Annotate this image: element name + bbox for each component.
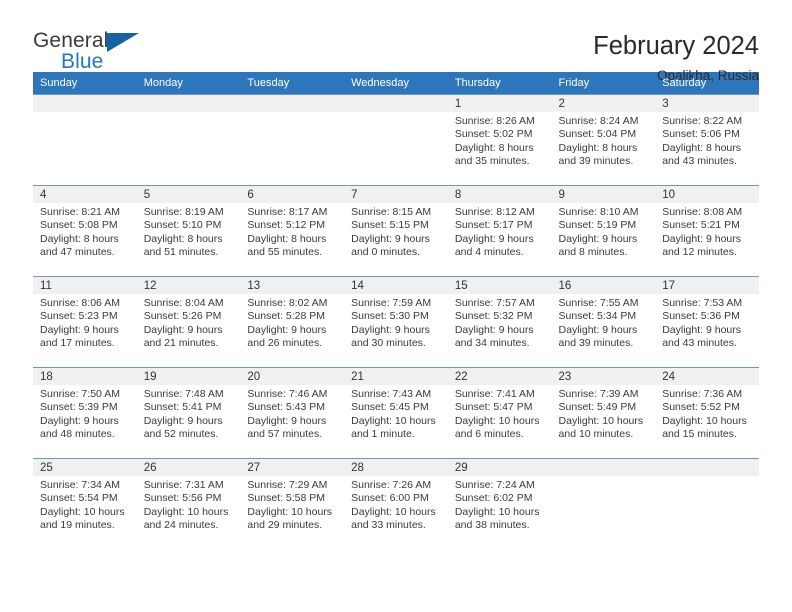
day-cell-inner: 28Sunrise: 7:26 AMSunset: 6:00 PMDayligh… (344, 459, 448, 549)
sunset-line: Sunset: 5:10 PM (144, 219, 235, 232)
day-cell-inner: 20Sunrise: 7:46 AMSunset: 5:43 PMDayligh… (240, 368, 344, 458)
daylight-line: Daylight: 10 hours (351, 415, 442, 428)
calendar-day-cell[interactable]: 17Sunrise: 7:53 AMSunset: 5:36 PMDayligh… (655, 277, 759, 368)
sunrise-line: Sunrise: 8:19 AM (144, 206, 235, 219)
daylight-line: Daylight: 9 hours (40, 415, 131, 428)
sunset-line: Sunset: 5:04 PM (559, 128, 650, 141)
day-sun-details: Sunrise: 8:06 AMSunset: 5:23 PMDaylight:… (33, 294, 137, 351)
daylight-line-cont: and 47 minutes. (40, 246, 131, 259)
calendar-day-cell-empty (552, 459, 656, 550)
day-number: 8 (448, 186, 552, 203)
day-number (552, 459, 656, 476)
daylight-line-cont: and 29 minutes. (247, 519, 338, 532)
day-number: 10 (655, 186, 759, 203)
calendar-day-cell[interactable]: 7Sunrise: 8:15 AMSunset: 5:15 PMDaylight… (344, 186, 448, 277)
sunset-line: Sunset: 5:52 PM (662, 401, 753, 414)
daylight-line-cont: and 43 minutes. (662, 155, 753, 168)
daylight-line: Daylight: 10 hours (144, 506, 235, 519)
day-sun-details: Sunrise: 7:39 AMSunset: 5:49 PMDaylight:… (552, 385, 656, 442)
daylight-line: Daylight: 9 hours (559, 324, 650, 337)
sunset-line: Sunset: 5:39 PM (40, 401, 131, 414)
daylight-line: Daylight: 9 hours (455, 233, 546, 246)
day-sun-details: Sunrise: 7:55 AMSunset: 5:34 PMDaylight:… (552, 294, 656, 351)
day-cell-inner: 13Sunrise: 8:02 AMSunset: 5:28 PMDayligh… (240, 277, 344, 367)
daylight-line: Daylight: 9 hours (247, 324, 338, 337)
calendar-week-row: 25Sunrise: 7:34 AMSunset: 5:54 PMDayligh… (33, 459, 759, 550)
calendar-day-cell[interactable]: 1Sunrise: 8:26 AMSunset: 5:02 PMDaylight… (448, 95, 552, 186)
page-title: February 2024 (593, 31, 759, 61)
calendar-body: 1Sunrise: 8:26 AMSunset: 5:02 PMDaylight… (33, 95, 759, 550)
calendar-day-cell[interactable]: 5Sunrise: 8:19 AMSunset: 5:10 PMDaylight… (137, 186, 241, 277)
triangle-icon (107, 33, 139, 52)
day-sun-details: Sunrise: 7:53 AMSunset: 5:36 PMDaylight:… (655, 294, 759, 351)
day-sun-details: Sunrise: 7:48 AMSunset: 5:41 PMDaylight:… (137, 385, 241, 442)
day-number (137, 95, 241, 112)
day-sun-details: Sunrise: 7:29 AMSunset: 5:58 PMDaylight:… (240, 476, 344, 533)
sunset-line: Sunset: 5:06 PM (662, 128, 753, 141)
calendar-day-cell[interactable]: 20Sunrise: 7:46 AMSunset: 5:43 PMDayligh… (240, 368, 344, 459)
sunset-line: Sunset: 5:17 PM (455, 219, 546, 232)
daylight-line-cont: and 39 minutes. (559, 337, 650, 350)
daylight-line-cont: and 4 minutes. (455, 246, 546, 259)
calendar-day-cell[interactable]: 2Sunrise: 8:24 AMSunset: 5:04 PMDaylight… (552, 95, 656, 186)
sunrise-line: Sunrise: 7:24 AM (455, 479, 546, 492)
day-cell-inner: 17Sunrise: 7:53 AMSunset: 5:36 PMDayligh… (655, 277, 759, 367)
sunset-line: Sunset: 5:12 PM (247, 219, 338, 232)
calendar-day-cell-empty (137, 95, 241, 186)
calendar-day-cell[interactable]: 12Sunrise: 8:04 AMSunset: 5:26 PMDayligh… (137, 277, 241, 368)
sunset-line: Sunset: 5:49 PM (559, 401, 650, 414)
daylight-line-cont: and 35 minutes. (455, 155, 546, 168)
daylight-line: Daylight: 9 hours (559, 233, 650, 246)
sunrise-line: Sunrise: 7:50 AM (40, 388, 131, 401)
sunrise-line: Sunrise: 8:21 AM (40, 206, 131, 219)
daylight-line-cont: and 12 minutes. (662, 246, 753, 259)
sunrise-line: Sunrise: 7:59 AM (351, 297, 442, 310)
sunrise-line: Sunrise: 8:08 AM (662, 206, 753, 219)
day-cell-inner: 11Sunrise: 8:06 AMSunset: 5:23 PMDayligh… (33, 277, 137, 367)
day-cell-inner: 26Sunrise: 7:31 AMSunset: 5:56 PMDayligh… (137, 459, 241, 549)
daylight-line-cont: and 0 minutes. (351, 246, 442, 259)
daylight-line-cont: and 17 minutes. (40, 337, 131, 350)
day-cell-inner: 22Sunrise: 7:41 AMSunset: 5:47 PMDayligh… (448, 368, 552, 458)
day-sun-details: Sunrise: 8:02 AMSunset: 5:28 PMDaylight:… (240, 294, 344, 351)
calendar-day-cell-empty (344, 95, 448, 186)
calendar-day-cell[interactable]: 9Sunrise: 8:10 AMSunset: 5:19 PMDaylight… (552, 186, 656, 277)
logo-text-blue: Blue (61, 51, 103, 72)
day-number: 28 (344, 459, 448, 476)
logo-text-general: General (33, 29, 108, 52)
daylight-line-cont: and 39 minutes. (559, 155, 650, 168)
daylight-line: Daylight: 9 hours (247, 415, 338, 428)
day-number: 7 (344, 186, 448, 203)
daylight-line: Daylight: 8 hours (247, 233, 338, 246)
day-sun-details: Sunrise: 7:24 AMSunset: 6:02 PMDaylight:… (448, 476, 552, 533)
sunrise-line: Sunrise: 8:26 AM (455, 115, 546, 128)
day-cell-inner: 27Sunrise: 7:29 AMSunset: 5:58 PMDayligh… (240, 459, 344, 549)
daylight-line: Daylight: 9 hours (351, 324, 442, 337)
daylight-line: Daylight: 10 hours (662, 415, 753, 428)
day-sun-details: Sunrise: 7:43 AMSunset: 5:45 PMDaylight:… (344, 385, 448, 442)
daylight-line: Daylight: 10 hours (455, 415, 546, 428)
day-cell-inner (655, 459, 759, 549)
weekday-header-thursday: Thursday (448, 72, 552, 95)
page-header: General Blue February 2024 Opalikha, Rus… (33, 0, 759, 68)
daylight-line-cont: and 34 minutes. (455, 337, 546, 350)
daylight-line: Daylight: 8 hours (40, 233, 131, 246)
sunset-line: Sunset: 5:15 PM (351, 219, 442, 232)
sunrise-line: Sunrise: 8:10 AM (559, 206, 650, 219)
daylight-line-cont: and 55 minutes. (247, 246, 338, 259)
month-calendar: Sunday Monday Tuesday Wednesday Thursday… (33, 72, 759, 549)
day-sun-details: Sunrise: 7:50 AMSunset: 5:39 PMDaylight:… (33, 385, 137, 442)
day-cell-inner (240, 95, 344, 185)
sunrise-line: Sunrise: 7:48 AM (144, 388, 235, 401)
daylight-line-cont: and 6 minutes. (455, 428, 546, 441)
sunset-line: Sunset: 5:36 PM (662, 310, 753, 323)
calendar-day-cell[interactable]: 15Sunrise: 7:57 AMSunset: 5:32 PMDayligh… (448, 277, 552, 368)
day-cell-inner (33, 95, 137, 185)
day-number: 4 (33, 186, 137, 203)
sunrise-line: Sunrise: 8:17 AM (247, 206, 338, 219)
day-number (240, 95, 344, 112)
day-number: 23 (552, 368, 656, 385)
day-sun-details: Sunrise: 8:26 AMSunset: 5:02 PMDaylight:… (448, 112, 552, 169)
sunset-line: Sunset: 5:56 PM (144, 492, 235, 505)
calendar-week-row: 11Sunrise: 8:06 AMSunset: 5:23 PMDayligh… (33, 277, 759, 368)
calendar-day-cell[interactable]: 6Sunrise: 8:17 AMSunset: 5:12 PMDaylight… (240, 186, 344, 277)
daylight-line: Daylight: 8 hours (144, 233, 235, 246)
sunset-line: Sunset: 5:23 PM (40, 310, 131, 323)
daylight-line-cont: and 52 minutes. (144, 428, 235, 441)
day-sun-details: Sunrise: 7:36 AMSunset: 5:52 PMDaylight:… (655, 385, 759, 442)
sunrise-line: Sunrise: 8:04 AM (144, 297, 235, 310)
calendar-day-cell[interactable]: 14Sunrise: 7:59 AMSunset: 5:30 PMDayligh… (344, 277, 448, 368)
sunset-line: Sunset: 5:30 PM (351, 310, 442, 323)
daylight-line-cont: and 48 minutes. (40, 428, 131, 441)
calendar-day-cell[interactable]: 16Sunrise: 7:55 AMSunset: 5:34 PMDayligh… (552, 277, 656, 368)
day-cell-inner: 8Sunrise: 8:12 AMSunset: 5:17 PMDaylight… (448, 186, 552, 276)
sunset-line: Sunset: 5:21 PM (662, 219, 753, 232)
day-number: 26 (137, 459, 241, 476)
daylight-line-cont: and 33 minutes. (351, 519, 442, 532)
daylight-line: Daylight: 8 hours (455, 142, 546, 155)
calendar-day-cell[interactable]: 10Sunrise: 8:08 AMSunset: 5:21 PMDayligh… (655, 186, 759, 277)
day-number: 19 (137, 368, 241, 385)
daylight-line-cont: and 57 minutes. (247, 428, 338, 441)
day-number: 15 (448, 277, 552, 294)
daylight-line: Daylight: 9 hours (351, 233, 442, 246)
day-cell-inner (344, 95, 448, 185)
sunset-line: Sunset: 5:08 PM (40, 219, 131, 232)
daylight-line: Daylight: 9 hours (144, 324, 235, 337)
sunset-line: Sunset: 5:34 PM (559, 310, 650, 323)
day-cell-inner: 18Sunrise: 7:50 AMSunset: 5:39 PMDayligh… (33, 368, 137, 458)
calendar-week-row: 18Sunrise: 7:50 AMSunset: 5:39 PMDayligh… (33, 368, 759, 459)
sunrise-line: Sunrise: 7:57 AM (455, 297, 546, 310)
day-number: 24 (655, 368, 759, 385)
calendar-day-cell[interactable]: 8Sunrise: 8:12 AMSunset: 5:17 PMDaylight… (448, 186, 552, 277)
day-number: 29 (448, 459, 552, 476)
day-sun-details: Sunrise: 8:19 AMSunset: 5:10 PMDaylight:… (137, 203, 241, 260)
day-number: 18 (33, 368, 137, 385)
sunrise-line: Sunrise: 8:06 AM (40, 297, 131, 310)
day-cell-inner: 2Sunrise: 8:24 AMSunset: 5:04 PMDaylight… (552, 95, 656, 185)
day-cell-inner: 3Sunrise: 8:22 AMSunset: 5:06 PMDaylight… (655, 95, 759, 185)
day-cell-inner: 9Sunrise: 8:10 AMSunset: 5:19 PMDaylight… (552, 186, 656, 276)
sunrise-line: Sunrise: 7:53 AM (662, 297, 753, 310)
calendar-day-cell[interactable]: 26Sunrise: 7:31 AMSunset: 5:56 PMDayligh… (137, 459, 241, 550)
day-cell-inner: 6Sunrise: 8:17 AMSunset: 5:12 PMDaylight… (240, 186, 344, 276)
calendar-day-cell[interactable]: 23Sunrise: 7:39 AMSunset: 5:49 PMDayligh… (552, 368, 656, 459)
day-cell-inner: 4Sunrise: 8:21 AMSunset: 5:08 PMDaylight… (33, 186, 137, 276)
sunrise-line: Sunrise: 7:43 AM (351, 388, 442, 401)
calendar-day-cell[interactable]: 28Sunrise: 7:26 AMSunset: 6:00 PMDayligh… (344, 459, 448, 550)
day-sun-details: Sunrise: 8:21 AMSunset: 5:08 PMDaylight:… (33, 203, 137, 260)
sunset-line: Sunset: 5:58 PM (247, 492, 338, 505)
sunset-line: Sunset: 5:41 PM (144, 401, 235, 414)
day-number: 11 (33, 277, 137, 294)
daylight-line: Daylight: 10 hours (559, 415, 650, 428)
day-cell-inner: 15Sunrise: 7:57 AMSunset: 5:32 PMDayligh… (448, 277, 552, 367)
calendar-day-cell[interactable]: 29Sunrise: 7:24 AMSunset: 6:02 PMDayligh… (448, 459, 552, 550)
daylight-line-cont: and 10 minutes. (559, 428, 650, 441)
calendar-day-cell[interactable]: 18Sunrise: 7:50 AMSunset: 5:39 PMDayligh… (33, 368, 137, 459)
day-cell-inner: 7Sunrise: 8:15 AMSunset: 5:15 PMDaylight… (344, 186, 448, 276)
daylight-line: Daylight: 8 hours (662, 142, 753, 155)
day-sun-details: Sunrise: 8:10 AMSunset: 5:19 PMDaylight:… (552, 203, 656, 260)
day-cell-inner: 14Sunrise: 7:59 AMSunset: 5:30 PMDayligh… (344, 277, 448, 367)
calendar-page: General Blue February 2024 Opalikha, Rus… (0, 0, 792, 612)
day-number: 12 (137, 277, 241, 294)
day-number: 17 (655, 277, 759, 294)
day-number: 2 (552, 95, 656, 112)
calendar-day-cell[interactable]: 24Sunrise: 7:36 AMSunset: 5:52 PMDayligh… (655, 368, 759, 459)
calendar-day-cell[interactable]: 25Sunrise: 7:34 AMSunset: 5:54 PMDayligh… (33, 459, 137, 550)
day-number: 13 (240, 277, 344, 294)
day-sun-details: Sunrise: 7:41 AMSunset: 5:47 PMDaylight:… (448, 385, 552, 442)
day-number: 9 (552, 186, 656, 203)
sunrise-line: Sunrise: 7:41 AM (455, 388, 546, 401)
daylight-line-cont: and 43 minutes. (662, 337, 753, 350)
day-cell-inner: 5Sunrise: 8:19 AMSunset: 5:10 PMDaylight… (137, 186, 241, 276)
sunrise-line: Sunrise: 8:12 AM (455, 206, 546, 219)
day-cell-inner (552, 459, 656, 549)
day-cell-inner (137, 95, 241, 185)
day-sun-details: Sunrise: 8:08 AMSunset: 5:21 PMDaylight:… (655, 203, 759, 260)
day-sun-details: Sunrise: 8:12 AMSunset: 5:17 PMDaylight:… (448, 203, 552, 260)
general-blue-logo[interactable]: General Blue (33, 30, 153, 78)
daylight-line: Daylight: 9 hours (455, 324, 546, 337)
sunrise-line: Sunrise: 7:39 AM (559, 388, 650, 401)
weekday-header-wednesday: Wednesday (344, 72, 448, 95)
calendar-day-cell[interactable]: 11Sunrise: 8:06 AMSunset: 5:23 PMDayligh… (33, 277, 137, 368)
day-cell-inner: 10Sunrise: 8:08 AMSunset: 5:21 PMDayligh… (655, 186, 759, 276)
daylight-line: Daylight: 10 hours (247, 506, 338, 519)
calendar-day-cell[interactable]: 4Sunrise: 8:21 AMSunset: 5:08 PMDaylight… (33, 186, 137, 277)
daylight-line: Daylight: 10 hours (455, 506, 546, 519)
sunset-line: Sunset: 5:54 PM (40, 492, 131, 505)
daylight-line-cont: and 21 minutes. (144, 337, 235, 350)
sunset-line: Sunset: 5:47 PM (455, 401, 546, 414)
daylight-line-cont: and 24 minutes. (144, 519, 235, 532)
calendar-week-row: 4Sunrise: 8:21 AMSunset: 5:08 PMDaylight… (33, 186, 759, 277)
day-cell-inner: 23Sunrise: 7:39 AMSunset: 5:49 PMDayligh… (552, 368, 656, 458)
sunset-line: Sunset: 5:26 PM (144, 310, 235, 323)
day-cell-inner: 29Sunrise: 7:24 AMSunset: 6:02 PMDayligh… (448, 459, 552, 549)
calendar-day-cell[interactable]: 21Sunrise: 7:43 AMSunset: 5:45 PMDayligh… (344, 368, 448, 459)
calendar-day-cell[interactable]: 27Sunrise: 7:29 AMSunset: 5:58 PMDayligh… (240, 459, 344, 550)
day-cell-inner: 1Sunrise: 8:26 AMSunset: 5:02 PMDaylight… (448, 95, 552, 185)
day-number: 27 (240, 459, 344, 476)
day-number: 20 (240, 368, 344, 385)
calendar-day-cell[interactable]: 19Sunrise: 7:48 AMSunset: 5:41 PMDayligh… (137, 368, 241, 459)
day-number: 25 (33, 459, 137, 476)
daylight-line-cont: and 51 minutes. (144, 246, 235, 259)
sunrise-line: Sunrise: 7:34 AM (40, 479, 131, 492)
daylight-line: Daylight: 9 hours (662, 324, 753, 337)
sunset-line: Sunset: 5:32 PM (455, 310, 546, 323)
daylight-line: Daylight: 10 hours (40, 506, 131, 519)
calendar-day-cell-empty (33, 95, 137, 186)
day-number (344, 95, 448, 112)
calendar-day-cell-empty (240, 95, 344, 186)
day-cell-inner: 25Sunrise: 7:34 AMSunset: 5:54 PMDayligh… (33, 459, 137, 549)
day-cell-inner: 19Sunrise: 7:48 AMSunset: 5:41 PMDayligh… (137, 368, 241, 458)
day-cell-inner: 16Sunrise: 7:55 AMSunset: 5:34 PMDayligh… (552, 277, 656, 367)
daylight-line: Daylight: 9 hours (662, 233, 753, 246)
sunset-line: Sunset: 5:19 PM (559, 219, 650, 232)
day-sun-details: Sunrise: 8:17 AMSunset: 5:12 PMDaylight:… (240, 203, 344, 260)
day-sun-details: Sunrise: 7:31 AMSunset: 5:56 PMDaylight:… (137, 476, 241, 533)
day-number: 5 (137, 186, 241, 203)
weekday-header-tuesday: Tuesday (240, 72, 344, 95)
day-cell-inner: 21Sunrise: 7:43 AMSunset: 5:45 PMDayligh… (344, 368, 448, 458)
daylight-line: Daylight: 10 hours (351, 506, 442, 519)
day-number: 16 (552, 277, 656, 294)
calendar-day-cell[interactable]: 13Sunrise: 8:02 AMSunset: 5:28 PMDayligh… (240, 277, 344, 368)
sunrise-line: Sunrise: 7:55 AM (559, 297, 650, 310)
day-sun-details: Sunrise: 8:15 AMSunset: 5:15 PMDaylight:… (344, 203, 448, 260)
daylight-line: Daylight: 9 hours (144, 415, 235, 428)
sunrise-line: Sunrise: 8:22 AM (662, 115, 753, 128)
day-sun-details: Sunrise: 7:57 AMSunset: 5:32 PMDaylight:… (448, 294, 552, 351)
day-sun-details: Sunrise: 7:46 AMSunset: 5:43 PMDaylight:… (240, 385, 344, 442)
day-number (33, 95, 137, 112)
sunset-line: Sunset: 5:02 PM (455, 128, 546, 141)
day-sun-details: Sunrise: 7:59 AMSunset: 5:30 PMDaylight:… (344, 294, 448, 351)
day-number: 1 (448, 95, 552, 112)
sunset-line: Sunset: 6:02 PM (455, 492, 546, 505)
day-number (655, 459, 759, 476)
calendar-week-row: 1Sunrise: 8:26 AMSunset: 5:02 PMDaylight… (33, 95, 759, 186)
day-number: 22 (448, 368, 552, 385)
day-sun-details: Sunrise: 8:24 AMSunset: 5:04 PMDaylight:… (552, 112, 656, 169)
sunset-line: Sunset: 6:00 PM (351, 492, 442, 505)
calendar-day-cell[interactable]: 3Sunrise: 8:22 AMSunset: 5:06 PMDaylight… (655, 95, 759, 186)
sunrise-line: Sunrise: 8:24 AM (559, 115, 650, 128)
sunrise-line: Sunrise: 7:36 AM (662, 388, 753, 401)
calendar-day-cell-empty (655, 459, 759, 550)
sunrise-line: Sunrise: 7:46 AM (247, 388, 338, 401)
calendar-day-cell[interactable]: 22Sunrise: 7:41 AMSunset: 5:47 PMDayligh… (448, 368, 552, 459)
day-number: 14 (344, 277, 448, 294)
daylight-line-cont: and 38 minutes. (455, 519, 546, 532)
sunrise-line: Sunrise: 7:29 AM (247, 479, 338, 492)
sunset-line: Sunset: 5:28 PM (247, 310, 338, 323)
day-cell-inner: 24Sunrise: 7:36 AMSunset: 5:52 PMDayligh… (655, 368, 759, 458)
sunrise-line: Sunrise: 7:26 AM (351, 479, 442, 492)
sunset-line: Sunset: 5:45 PM (351, 401, 442, 414)
day-sun-details: Sunrise: 7:26 AMSunset: 6:00 PMDaylight:… (344, 476, 448, 533)
day-number: 21 (344, 368, 448, 385)
sunrise-line: Sunrise: 8:02 AM (247, 297, 338, 310)
daylight-line: Daylight: 9 hours (40, 324, 131, 337)
day-number: 3 (655, 95, 759, 112)
sunset-line: Sunset: 5:43 PM (247, 401, 338, 414)
day-sun-details: Sunrise: 8:04 AMSunset: 5:26 PMDaylight:… (137, 294, 241, 351)
daylight-line-cont: and 1 minute. (351, 428, 442, 441)
sunrise-line: Sunrise: 7:31 AM (144, 479, 235, 492)
day-sun-details: Sunrise: 8:22 AMSunset: 5:06 PMDaylight:… (655, 112, 759, 169)
daylight-line-cont: and 30 minutes. (351, 337, 442, 350)
daylight-line: Daylight: 8 hours (559, 142, 650, 155)
day-sun-details: Sunrise: 7:34 AMSunset: 5:54 PMDaylight:… (33, 476, 137, 533)
daylight-line-cont: and 19 minutes. (40, 519, 131, 532)
daylight-line-cont: and 26 minutes. (247, 337, 338, 350)
sunrise-line: Sunrise: 8:15 AM (351, 206, 442, 219)
day-cell-inner: 12Sunrise: 8:04 AMSunset: 5:26 PMDayligh… (137, 277, 241, 367)
day-number: 6 (240, 186, 344, 203)
daylight-line-cont: and 8 minutes. (559, 246, 650, 259)
daylight-line-cont: and 15 minutes. (662, 428, 753, 441)
